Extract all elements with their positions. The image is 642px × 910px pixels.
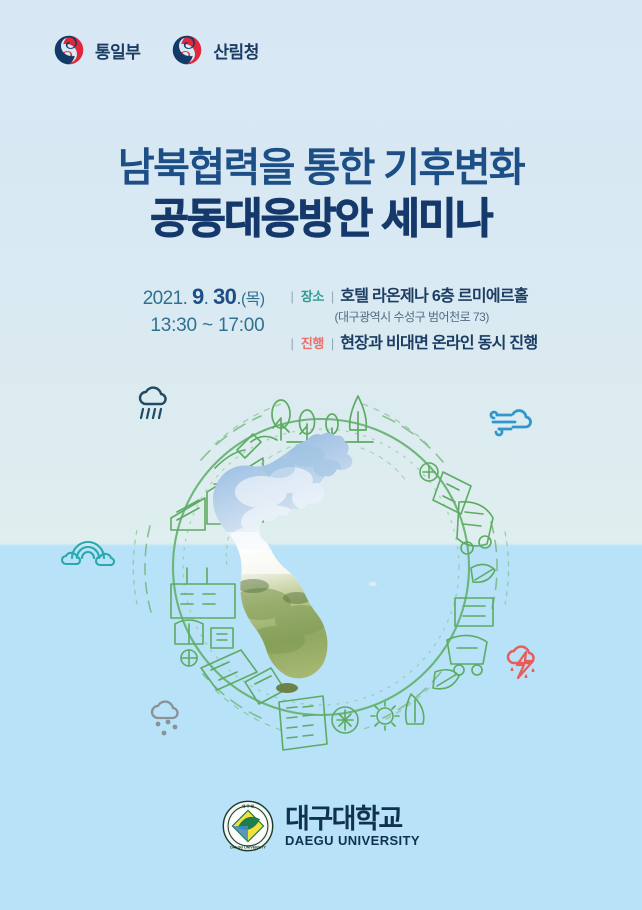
title-line-2: 공동대응방안 세미나 bbox=[0, 195, 642, 243]
date-day: 30 bbox=[213, 284, 236, 309]
ulleungdo-island bbox=[369, 582, 377, 586]
title-line-1: 남북협력을 통한 기후변화 bbox=[0, 146, 642, 191]
event-info: 2021. 9. 30.(목) 13:30 ~ 17:00 | 장소 | 호텔 … bbox=[0, 281, 642, 353]
place-line: | 장소 | 호텔 라온제나 6층 르미에르홀 bbox=[291, 282, 538, 306]
university-footer: 대 구 대 DAEGU UNIVERSITY 대구대학교 DAEGU UNIVE… bbox=[0, 800, 642, 852]
logo-forest-service: 산림청 bbox=[170, 33, 258, 67]
poster-root: 통일부 산림청 남북협력을 통한 기후변화 공동대응방안 세미나 2021. 9… bbox=[0, 0, 642, 910]
date-month: 9 bbox=[192, 284, 204, 309]
daegu-university-emblem: 대 구 대 DAEGU UNIVERSITY bbox=[222, 800, 274, 852]
svg-text:대 구 대: 대 구 대 bbox=[242, 803, 255, 808]
snow-cloud-icon bbox=[144, 694, 192, 738]
university-name-ko: 대구대학교 bbox=[285, 806, 420, 833]
mode-label: 진행 bbox=[300, 333, 325, 352]
logo-unification-ministry: 통일부 bbox=[52, 33, 140, 67]
place-label: 장소 bbox=[300, 286, 325, 305]
place-bar-right: | bbox=[331, 289, 334, 304]
taeguk-icon bbox=[52, 33, 86, 67]
event-location: | 장소 | 호텔 라온제나 6층 르미에르홀 (대구광역시 수성구 범어천로 … bbox=[291, 281, 538, 353]
university-name-en: DAEGU UNIVERSITY bbox=[285, 834, 420, 847]
date-year: 2021. bbox=[143, 288, 188, 309]
mode-bar-left: | bbox=[291, 336, 294, 351]
mode-line: | 진행 | 현장과 비대면 온라인 동시 진행 bbox=[291, 329, 538, 353]
university-name-block: 대구대학교 DAEGU UNIVERSITY bbox=[285, 806, 420, 847]
government-logos: 통일부 산림청 bbox=[52, 33, 259, 67]
logo-label-forest-service: 산림청 bbox=[213, 38, 258, 63]
place-address: (대구광역시 수성구 범어천로 73) bbox=[335, 308, 538, 325]
thunderstorm-icon bbox=[500, 638, 544, 682]
taeguk-icon bbox=[170, 33, 204, 67]
event-time: 13:30 ~ 17:00 bbox=[105, 312, 265, 340]
svg-text:DAEGU UNIVERSITY: DAEGU UNIVERSITY bbox=[230, 846, 266, 850]
korea-peninsula-map bbox=[201, 427, 361, 690]
rain-cloud-icon bbox=[128, 378, 172, 422]
logo-label-unification: 통일부 bbox=[95, 38, 140, 63]
date-weekday: (목) bbox=[241, 291, 265, 308]
mode-bar-right: | bbox=[331, 336, 334, 351]
event-date: 2021. 9. 30.(목) bbox=[105, 282, 265, 312]
poster-title: 남북협력을 통한 기후변화 공동대응방안 세미나 bbox=[0, 146, 642, 243]
date-dot-1: . bbox=[204, 288, 209, 309]
jeju-island bbox=[276, 683, 298, 693]
place-value: 호텔 라온제나 6층 르미에르홀 bbox=[340, 282, 528, 306]
wind-cloud-icon bbox=[487, 404, 543, 440]
rainbow-cloud-icon bbox=[58, 528, 118, 568]
mode-value: 현장과 비대면 온라인 동시 진행 bbox=[340, 329, 537, 353]
event-datetime: 2021. 9. 30.(목) 13:30 ~ 17:00 bbox=[105, 281, 265, 339]
place-bar-left: | bbox=[291, 289, 294, 304]
